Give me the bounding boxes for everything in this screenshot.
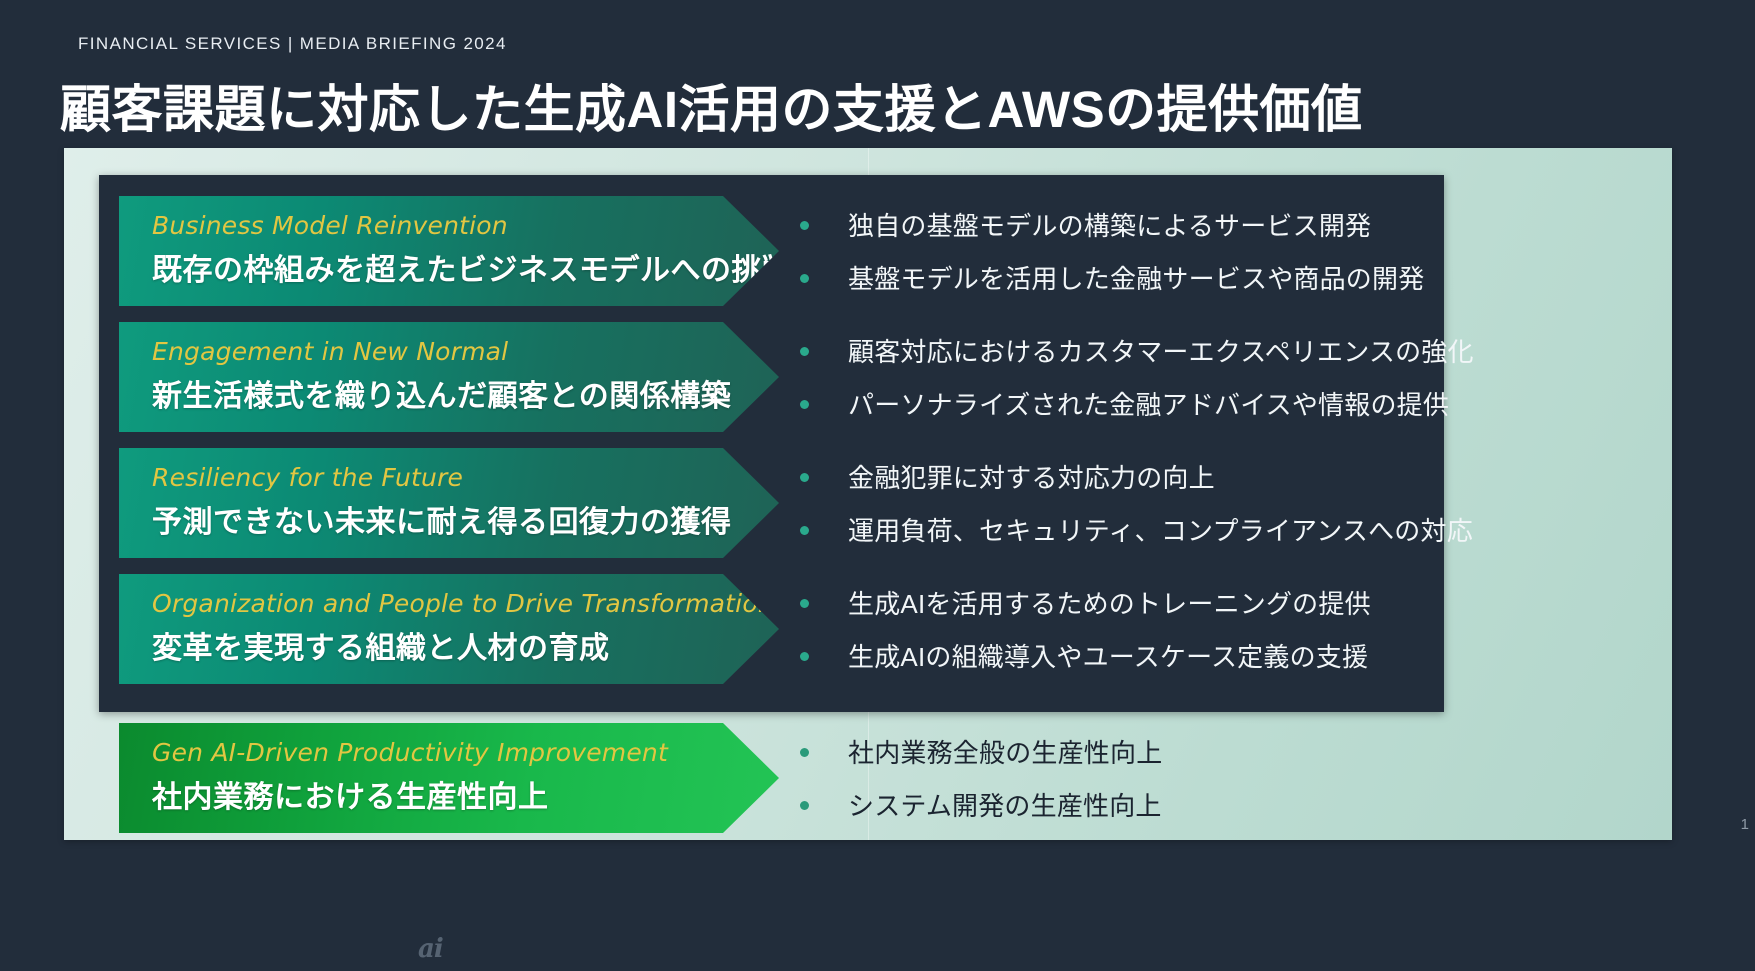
bullet-dot-icon xyxy=(800,274,809,283)
chevron-english-label: Engagement in New Normal xyxy=(152,336,779,367)
list-item: 基盤モデルを活用した金融サービスや商品の開発 xyxy=(800,259,1424,296)
chevron-english-label: Gen AI-Driven Productivity Improvement xyxy=(152,737,779,768)
chevron-english-label: Business Model Reinvention xyxy=(152,210,779,241)
chevron-japanese-label: 既存の枠組みを超えたビジネスモデルへの挑戦 xyxy=(152,245,779,289)
bullet-text: 生成AIの組織導入やユースケース定義の支援 xyxy=(848,637,1368,674)
bullet-dot-icon xyxy=(800,599,809,608)
list-item: 独自の基盤モデルの構築によるサービス開発 xyxy=(800,206,1424,243)
watermark-logo: ai xyxy=(418,934,443,964)
bullet-list: 顧客対応におけるカスタマーエクスペリエンスの強化 パーソナライズされた金融アドバ… xyxy=(800,322,1474,432)
chevron-japanese-label: 変革を実現する組織と人材の育成 xyxy=(152,623,779,667)
chevron-resiliency-for-the-future[interactable]: Resiliency for the Future 予測できない未来に耐え得る回… xyxy=(119,448,779,558)
chevron-engagement-in-new-normal[interactable]: Engagement in New Normal 新生活様式を織り込んだ顧客との… xyxy=(119,322,779,432)
bullet-list: 社内業務全般の生産性向上 システム開発の生産性向上 xyxy=(800,723,1162,833)
chevron-gen-ai-driven-productivity[interactable]: Gen AI-Driven Productivity Improvement 社… xyxy=(119,723,779,833)
bullet-text: 生成AIを活用するためのトレーニングの提供 xyxy=(848,584,1371,621)
bullet-dot-icon xyxy=(800,526,809,535)
chevron-japanese-label: 社内業務における生産性向上 xyxy=(152,772,779,816)
bullet-dot-icon xyxy=(800,652,809,661)
bullet-dot-icon xyxy=(800,347,809,356)
list-item: システム開発の生産性向上 xyxy=(800,786,1162,823)
content-row: Engagement in New Normal 新生活様式を織り込んだ顧客との… xyxy=(0,322,1755,432)
page-number: 1 xyxy=(1741,816,1749,833)
bullet-text: 社内業務全般の生産性向上 xyxy=(848,733,1162,770)
chevron-business-model-reinvention[interactable]: Business Model Reinvention 既存の枠組みを超えたビジネ… xyxy=(119,196,779,306)
slide: FINANCIAL SERVICES | MEDIA BRIEFING 2024… xyxy=(0,0,1755,971)
bullet-dot-icon xyxy=(800,221,809,230)
list-item: 社内業務全般の生産性向上 xyxy=(800,733,1162,770)
chevron-organization-and-people[interactable]: Organization and People to Drive Transfo… xyxy=(119,574,779,684)
bullet-text: パーソナライズされた金融アドバイスや情報の提供 xyxy=(848,385,1449,422)
bullet-dot-icon xyxy=(800,400,809,409)
chevron-english-label: Resiliency for the Future xyxy=(152,462,779,493)
chevron-japanese-label: 新生活様式を織り込んだ顧客との関係構築 xyxy=(152,371,779,415)
bullet-list: 独自の基盤モデルの構築によるサービス開発 基盤モデルを活用した金融サービスや商品… xyxy=(800,196,1424,306)
list-item: 運用負荷、セキュリティ、コンプライアンスへの対応 xyxy=(800,511,1473,548)
page-title: 顧客課題に対応した生成AI活用の支援とAWSの提供価値 xyxy=(60,68,1363,142)
content-row: Organization and People to Drive Transfo… xyxy=(0,574,1755,684)
content-row: Gen AI-Driven Productivity Improvement 社… xyxy=(0,723,1755,833)
list-item: 金融犯罪に対する対応力の向上 xyxy=(800,458,1473,495)
list-item: パーソナライズされた金融アドバイスや情報の提供 xyxy=(800,385,1474,422)
chevron-english-label: Organization and People to Drive Transfo… xyxy=(152,588,779,619)
bullet-text: システム開発の生産性向上 xyxy=(848,786,1162,823)
bullet-text: 顧客対応におけるカスタマーエクスペリエンスの強化 xyxy=(848,332,1474,369)
list-item: 生成AIの組織導入やユースケース定義の支援 xyxy=(800,637,1371,674)
bullet-list: 金融犯罪に対する対応力の向上 運用負荷、セキュリティ、コンプライアンスへの対応 xyxy=(800,448,1473,558)
bullet-dot-icon xyxy=(800,473,809,482)
content-row: Resiliency for the Future 予測できない未来に耐え得る回… xyxy=(0,448,1755,558)
bullet-text: 金融犯罪に対する対応力の向上 xyxy=(848,458,1215,495)
bullet-list: 生成AIを活用するためのトレーニングの提供 生成AIの組織導入やユースケース定義… xyxy=(800,574,1371,684)
bullet-text: 独自の基盤モデルの構築によるサービス開発 xyxy=(848,206,1371,243)
slide-eyebrow: FINANCIAL SERVICES | MEDIA BRIEFING 2024 xyxy=(78,34,507,54)
bullet-text: 基盤モデルを活用した金融サービスや商品の開発 xyxy=(848,259,1424,296)
chevron-japanese-label: 予測できない未来に耐え得る回復力の獲得 xyxy=(152,497,779,541)
list-item: 生成AIを活用するためのトレーニングの提供 xyxy=(800,584,1371,621)
bullet-text: 運用負荷、セキュリティ、コンプライアンスへの対応 xyxy=(848,511,1473,548)
bullet-dot-icon xyxy=(800,748,809,757)
content-row: Business Model Reinvention 既存の枠組みを超えたビジネ… xyxy=(0,196,1755,306)
list-item: 顧客対応におけるカスタマーエクスペリエンスの強化 xyxy=(800,332,1474,369)
bullet-dot-icon xyxy=(800,801,809,810)
